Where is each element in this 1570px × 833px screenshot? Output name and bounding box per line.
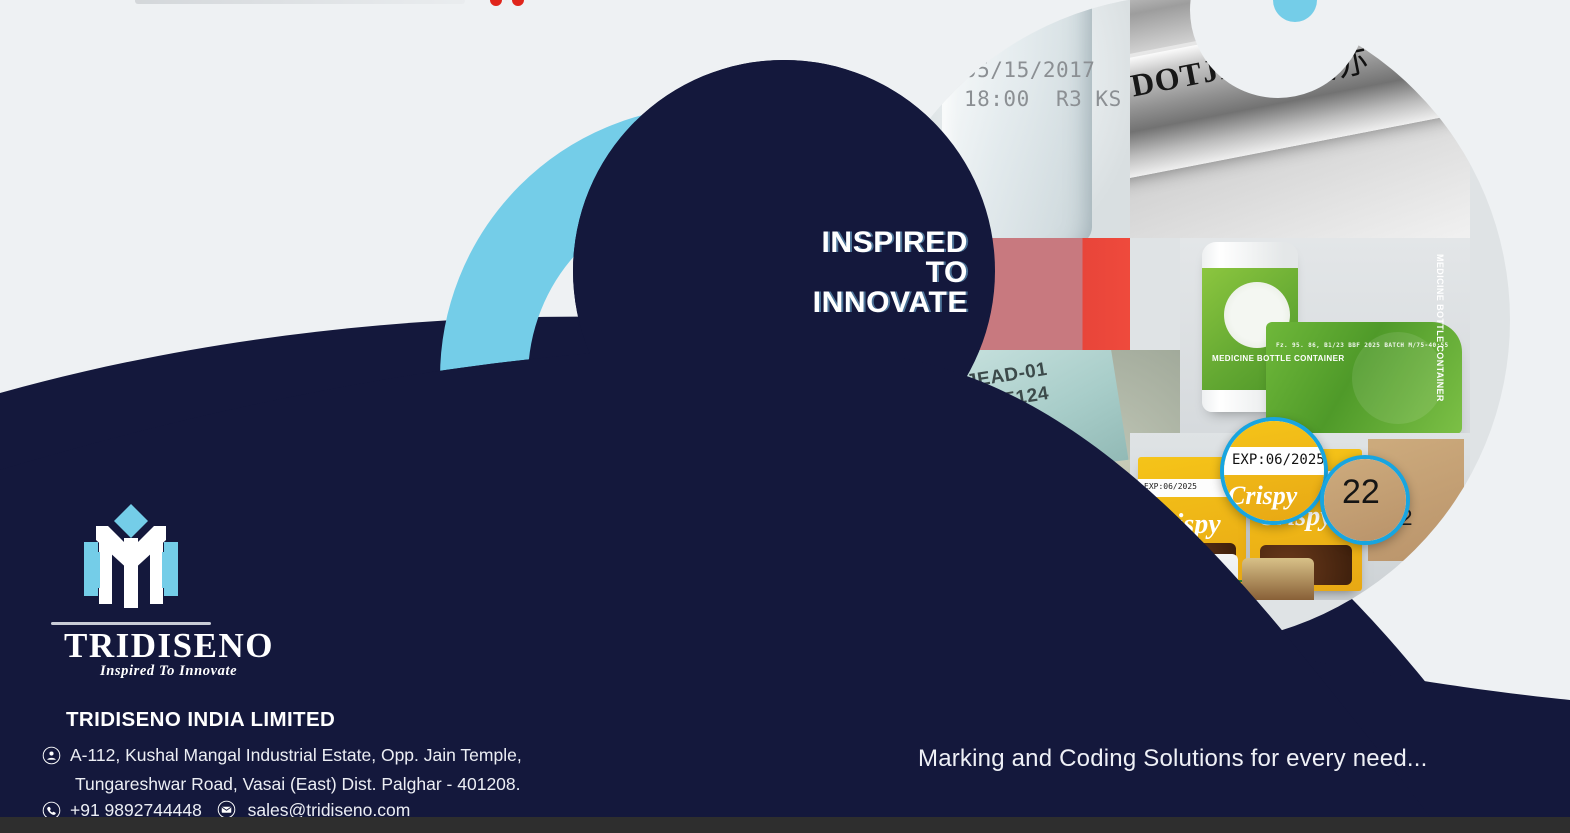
hero-slogan-line-1: INSPIRED (700, 228, 968, 258)
brand-contact-block: TRIDISENO Inspired To Innovate TRIDISENO… (40, 500, 600, 833)
logo-wordmark: TRIDISENO (64, 627, 600, 665)
address-line-1: A-112, Kushal Mangal Industrial Estate, … (70, 744, 600, 768)
tridiseno-chevron-logo-icon (66, 500, 196, 618)
company-name: TRIDISENO INDIA LIMITED (66, 708, 600, 732)
logo-tagline: Inspired To Innovate (100, 663, 600, 680)
logo-divider-rule (51, 622, 211, 625)
footer-tagline: Marking and Coding Solutions for every n… (918, 745, 1428, 773)
hero-slogan: INSPIRED TO INNOVATE (700, 228, 968, 318)
address-line-2: Tungareshwar Road, Vasai (East) Dist. Pa… (75, 773, 600, 797)
location-pin-icon (42, 746, 61, 772)
hero-slogan-line-2: TO (700, 258, 968, 288)
hero-slogan-line-3: INNOVATE (700, 288, 968, 318)
top-cropped-text-artifact (135, 0, 465, 4)
bottom-dark-bar (0, 817, 1570, 833)
brochure-canvas: 05/15/2017 18:00 R3 KS DOTJET 峻亦 MFG : 0… (0, 0, 1570, 833)
contact-row-address: A-112, Kushal Mangal Industrial Estate, … (42, 744, 600, 772)
